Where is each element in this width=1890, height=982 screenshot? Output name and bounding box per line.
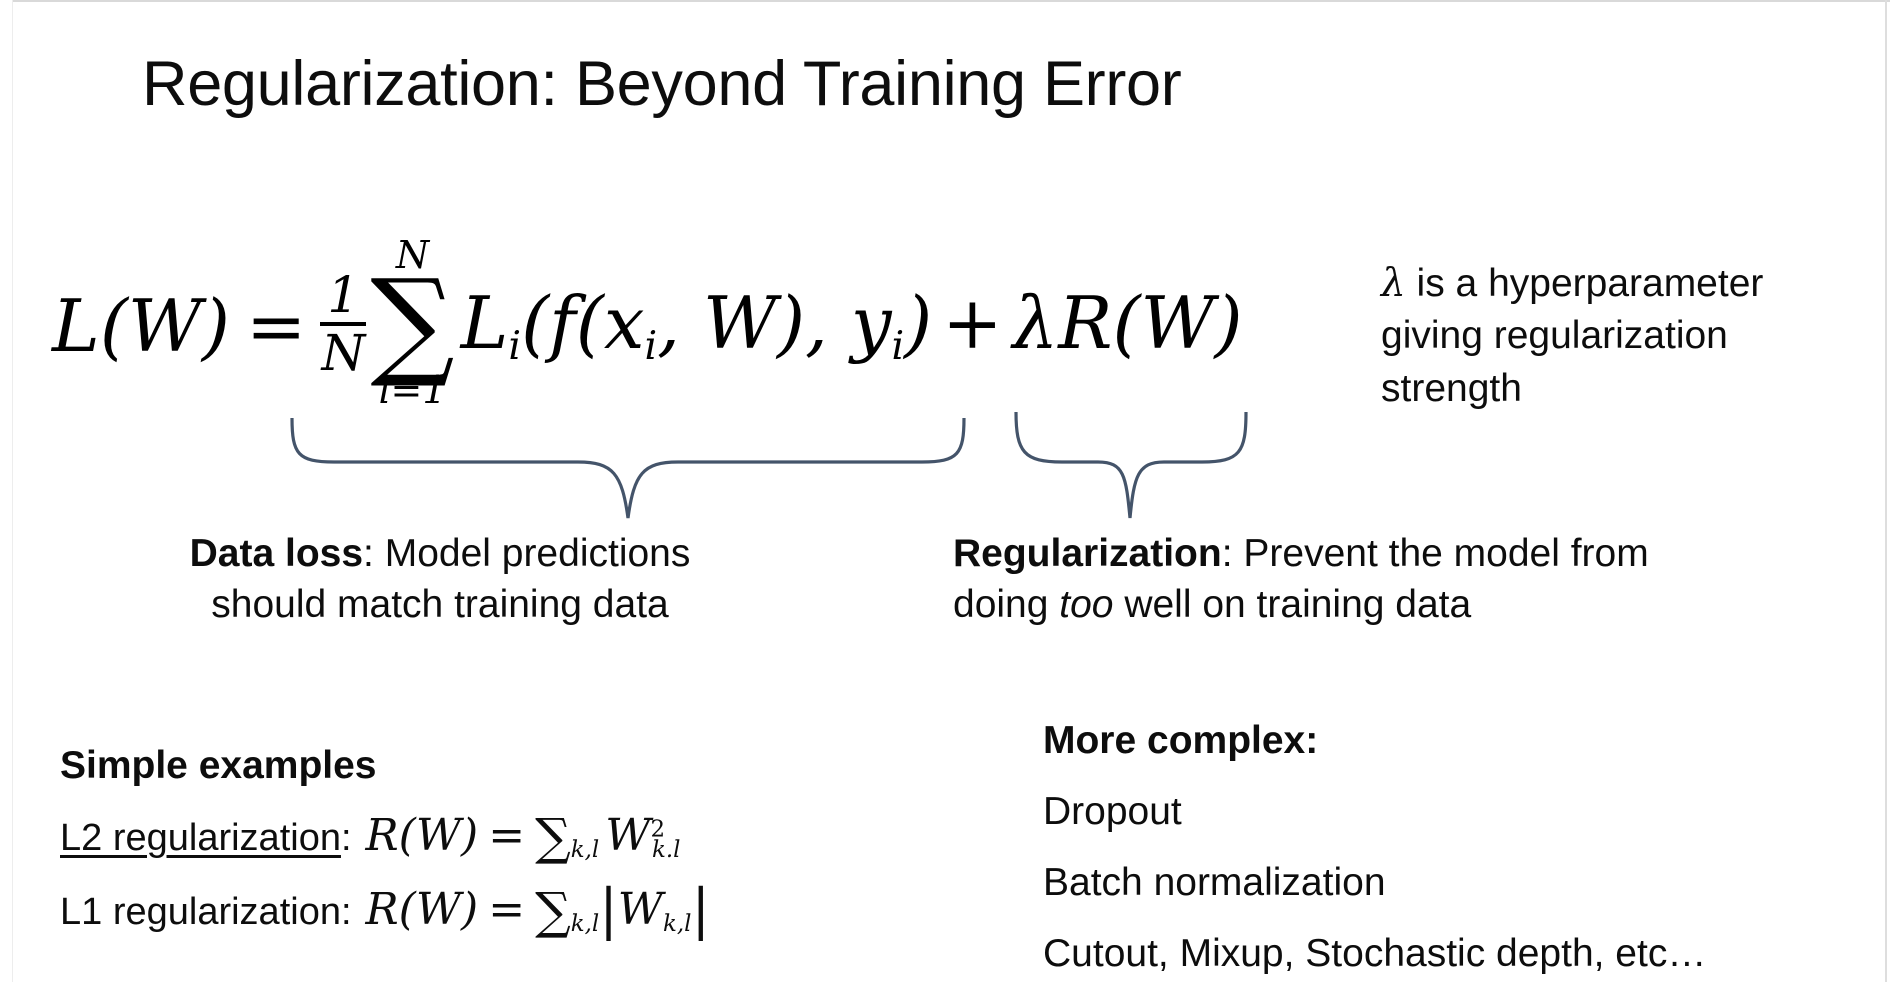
plus-sign: + (932, 281, 1012, 365)
l2-regularization-label: L2 regularization (60, 817, 341, 860)
l1-sum-subscript: k,l (571, 910, 599, 936)
y-subscript: i (892, 323, 905, 369)
l2-formula-lhs: R(W) (366, 810, 479, 861)
regularization-caption-italic-word: too (1059, 583, 1113, 626)
equation-equals-sign: = (230, 290, 320, 362)
lambda-note-text: is a hyperparameter giving regularizatio… (1381, 262, 1763, 410)
l2-colon: : (341, 817, 352, 860)
more-complex-heading: More complex: (1043, 720, 1706, 763)
l1-equals: = (478, 884, 535, 935)
x-subscript: i (645, 323, 658, 369)
more-complex-item-batchnorm: Batch normalization (1043, 862, 1706, 905)
l1-abs-open: | (599, 877, 618, 941)
equation-lhs: L(W) (52, 290, 230, 362)
frame-left-line (12, 0, 13, 982)
loss-args-middle: , W), y (657, 281, 891, 365)
sum-lower-limit: i=1 (378, 371, 446, 409)
l2-sum-subscript: k,l (571, 837, 599, 863)
loss-term-symbol: L (461, 281, 509, 365)
l1-variable-subscript: k,l (663, 910, 691, 936)
summation-operator: N ∑ i=1 (370, 236, 454, 409)
data-loss-caption: Data loss: Model predictions should matc… (160, 528, 720, 631)
loss-args-close: ) (904, 281, 932, 365)
simple-examples-heading: Simple examples (60, 745, 710, 788)
l1-colon: : (341, 891, 352, 934)
data-loss-brace (288, 418, 968, 528)
regularization-term: λR(W) (1013, 281, 1243, 365)
fraction-denominator: N (321, 326, 365, 378)
l1-formula-lhs: R(W) (366, 884, 479, 935)
equation-row: L(W) = 1 N N ∑ i=1 Li(f(xi, W), yi)+λR(W… (52, 240, 1243, 413)
loss-term-subscript: i (508, 323, 521, 369)
lambda-symbol: λ (1381, 261, 1406, 306)
regularization-brace-svg (1012, 412, 1252, 524)
regularization-caption-text-after: well on training data (1113, 583, 1471, 626)
l1-variable: W (618, 884, 663, 935)
l2-variable-subscript: k.l (652, 837, 680, 863)
l1-abs-close: | (691, 877, 710, 941)
loss-args-open: (f(x (521, 281, 644, 365)
l2-regularization-line: L2 regularization: R(W)=∑k,lW2k.l (60, 814, 710, 862)
more-complex-item-others: Cutout, Mixup, Stochastic depth, etc… (1043, 933, 1706, 976)
one-over-n-fraction: 1 N (320, 270, 366, 378)
equation-rhs: Li(f(xi, W), yi)+λR(W) (461, 287, 1243, 367)
page-title: Regularization: Beyond Training Error (142, 48, 1181, 120)
data-loss-brace-svg (288, 418, 968, 523)
more-complex-block: More complex: Dropout Batch normalizatio… (1043, 720, 1706, 976)
l2-variable: W (599, 810, 650, 861)
l2-sigma-icon: ∑ (535, 808, 571, 866)
more-complex-item-dropout: Dropout (1043, 791, 1706, 834)
l1-sigma-icon: ∑ (535, 882, 571, 940)
lambda-hyperparameter-note: λ is a hyperparameter giving regularizat… (1381, 258, 1811, 415)
slide-canvas: Regularization: Beyond Training Error L(… (0, 0, 1890, 982)
l2-equals: = (478, 810, 535, 861)
main-loss-equation: L(W) = 1 N N ∑ i=1 Li(f(xi, W), yi)+λR(W… (52, 178, 1312, 393)
l2-formula: R(W)=∑k,lW2k.l (366, 814, 681, 862)
sigma-icon: ∑ (370, 274, 454, 371)
frame-top-line (12, 0, 1890, 2)
fraction-numerator: 1 (327, 270, 359, 322)
simple-examples-block: Simple examples L2 regularization: R(W)=… (60, 745, 710, 935)
regularization-caption: Regularization: Prevent the model from d… (953, 528, 1653, 631)
regularization-brace (1012, 412, 1252, 529)
frame-right-line (1885, 0, 1887, 982)
l1-formula: R(W)=∑k,l|Wk,l| (366, 888, 710, 936)
regularization-caption-label: Regularization (953, 532, 1222, 575)
data-loss-caption-label: Data loss (190, 532, 363, 575)
l1-regularization-line: L1 regularization: R(W)=∑k,l|Wk,l| (60, 888, 710, 936)
l1-regularization-label: L1 regularization (60, 891, 341, 934)
